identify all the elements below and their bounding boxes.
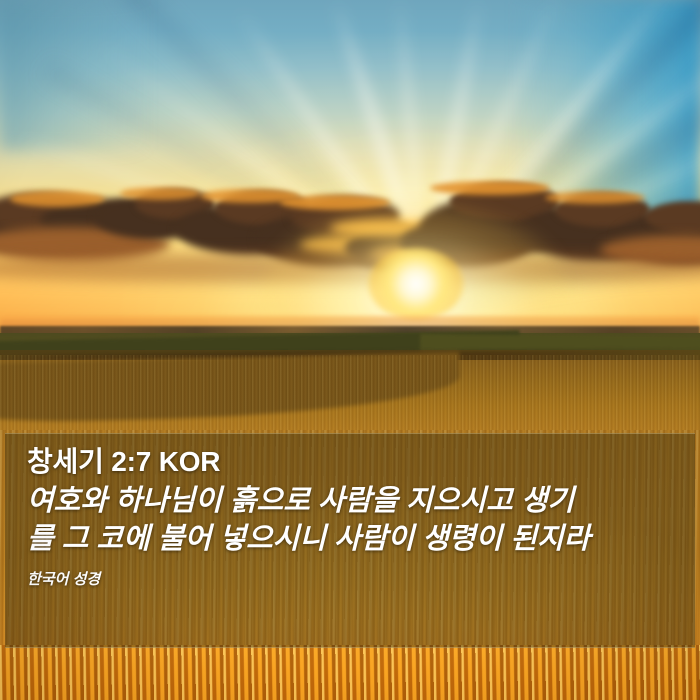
cloud-highlight — [430, 181, 550, 195]
verse-overlay-panel: 창세기 2:7 KOR 여호와 하나님이 흙으로 사람을 지으시고 생기 를 그… — [5, 433, 695, 648]
cloud-highlight — [10, 191, 105, 207]
cloud-highlight — [120, 187, 200, 200]
verse-source-label: 한국어 성경 — [27, 568, 677, 589]
sun-disc — [368, 248, 464, 320]
cloud-highlight — [545, 191, 645, 204]
verse-text-line: 를 그 코에 불어 넣으시니 사람이 생령이 된지라 — [27, 520, 677, 559]
verse-image-canvas: 창세기 2:7 KOR 여호와 하나님이 흙으로 사람을 지으시고 생기 를 그… — [0, 0, 700, 700]
wheat-foreground-stalks — [0, 645, 700, 700]
verse-text: 여호와 하나님이 흙으로 사람을 지으시고 생기 를 그 코에 불어 넣으시니 … — [27, 482, 677, 559]
verse-text-line: 여호와 하나님이 흙으로 사람을 지으시고 생기 — [27, 482, 677, 521]
verse-reference: 창세기 2:7 KOR — [27, 444, 677, 480]
